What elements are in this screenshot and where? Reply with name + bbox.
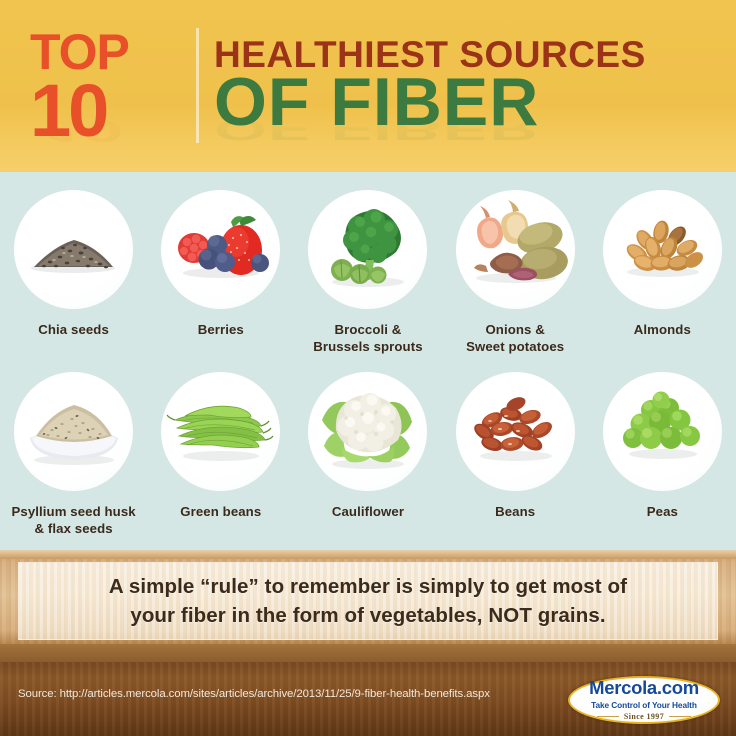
broccoli-brussels-sprouts-icon [308, 190, 427, 309]
food-label: Chia seeds [38, 321, 109, 338]
logo-tagline: Take Control of Your Health [591, 700, 697, 710]
food-label: Peas [647, 503, 678, 520]
beans-icon [456, 372, 575, 491]
quote-line-1: A simple “rule” to remember is simply to… [109, 575, 627, 598]
footer-bar: Source: http://articles.mercola.com/site… [0, 662, 736, 736]
mercola-logo[interactable]: Mercola.com Take Control of Your Health … [568, 676, 720, 724]
food-label: Green beans [180, 503, 261, 520]
food-label: Beans [495, 503, 535, 520]
quote-panel: A simple “rule” to remember is simply to… [18, 562, 718, 640]
header-banner: TOP 10 HEALTHIEST SOURCES OF FIBER 10 OF… [0, 0, 736, 172]
food-item-onions-sweet-potatoes[interactable]: Onions & Sweet potatoes [442, 190, 589, 356]
food-item-cauliflower[interactable]: Cauliflower [294, 372, 441, 538]
infographic-root: TOP 10 HEALTHIEST SOURCES OF FIBER 10 OF… [0, 0, 736, 736]
logo-name: Mercola.com [589, 679, 699, 698]
cauliflower-icon [308, 372, 427, 491]
quote-line-2: your fiber in the form of vegetables, NO… [130, 604, 605, 627]
food-circle [308, 372, 427, 491]
food-item-beans[interactable]: Beans [442, 372, 589, 538]
food-label-line1: Psyllium seed husk [11, 504, 135, 519]
wood-edge-bottom [0, 644, 736, 662]
logo-since-row: Since 1997 [597, 712, 691, 721]
food-circle [308, 190, 427, 309]
food-label-line2: Brussels sprouts [313, 339, 422, 354]
food-circle [603, 372, 722, 491]
ten-number: 10 [30, 78, 190, 145]
berries-icon [161, 190, 280, 309]
food-label: Psyllium seed husk & flax seeds [11, 503, 135, 538]
food-label: Berries [198, 321, 244, 338]
food-label: Broccoli & Brussels sprouts [313, 321, 422, 356]
logo-since-text: Since 1997 [624, 712, 664, 721]
food-item-berries[interactable]: Berries [147, 190, 294, 356]
food-circle [456, 190, 575, 309]
title-block: HEALTHIEST SOURCES OF FIBER [190, 34, 646, 134]
peas-icon [603, 372, 722, 491]
food-circle [603, 190, 722, 309]
logo-oval: Mercola.com Take Control of Your Health … [568, 676, 720, 724]
food-circle [14, 372, 133, 491]
food-item-chia-seeds[interactable]: Chia seeds [0, 190, 147, 356]
food-label: Cauliflower [332, 503, 404, 520]
title-line-of-fiber: OF FIBER [214, 71, 646, 134]
food-item-broccoli-brussels-sprouts[interactable]: Broccoli & Brussels sprouts [294, 190, 441, 356]
chia-seeds-icon [14, 190, 133, 309]
food-label: Onions & Sweet potatoes [466, 321, 564, 356]
food-item-psyllium-flax-seeds[interactable]: Psyllium seed husk & flax seeds [0, 372, 147, 538]
almonds-icon [603, 190, 722, 309]
food-circle [14, 190, 133, 309]
food-item-almonds[interactable]: Almonds [589, 190, 736, 356]
green-beans-icon [161, 372, 280, 491]
source-url[interactable]: Source: http://articles.mercola.com/site… [18, 688, 490, 700]
food-circle [456, 372, 575, 491]
food-label-line2: Sweet potatoes [466, 339, 564, 354]
food-grid-section: Chia seeds [0, 172, 736, 550]
quote-banner: A simple “rule” to remember is simply to… [0, 550, 736, 662]
food-circle [161, 372, 280, 491]
food-label-line1: Onions & [485, 322, 544, 337]
food-label: Almonds [634, 321, 691, 338]
food-label-line1: Broccoli & [334, 322, 401, 337]
food-item-peas[interactable]: Peas [589, 372, 736, 538]
onions-sweet-potatoes-icon [456, 190, 575, 309]
top-ten-block: TOP 10 [0, 24, 190, 145]
food-label-line2: & flax seeds [35, 521, 113, 536]
psyllium-flax-seeds-icon [14, 372, 133, 491]
header-divider [196, 28, 199, 143]
food-circle [161, 190, 280, 309]
logo-rule-left [597, 716, 619, 718]
wood-edge-top [0, 550, 736, 559]
food-row-1: Chia seeds [0, 190, 736, 356]
logo-rule-right [669, 716, 691, 718]
quote-text: A simple “rule” to remember is simply to… [109, 572, 627, 630]
food-item-green-beans[interactable]: Green beans [147, 372, 294, 538]
food-row-2: Psyllium seed husk & flax seeds [0, 372, 736, 538]
